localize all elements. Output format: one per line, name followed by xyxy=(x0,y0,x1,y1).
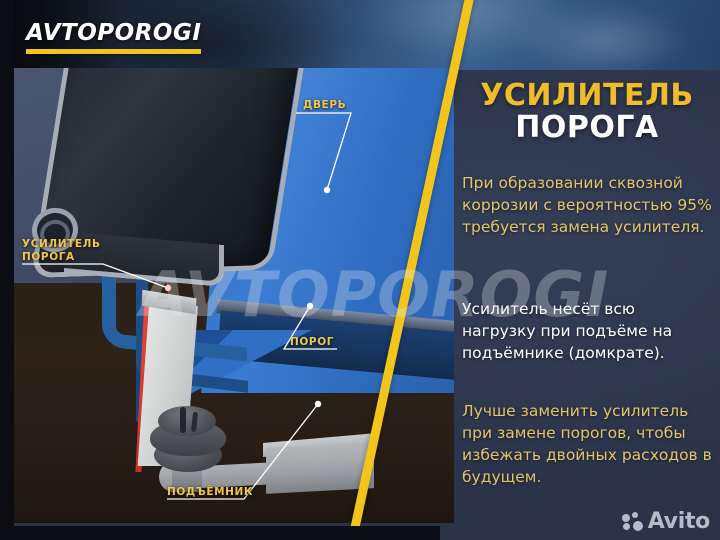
brand-logo-text: AVTOPOROGI xyxy=(26,22,201,45)
title-line-1: УСИЛИТЕЛЬ xyxy=(462,80,712,112)
infographic-card: AVTOPOROGI AVTOPOR xyxy=(0,0,720,540)
avito-logo-icon xyxy=(622,512,644,532)
lift-puck-slot xyxy=(180,407,186,433)
page-title: УСИЛИТЕЛЬ ПОРОГА xyxy=(462,80,712,145)
brand-logo: AVTOPOROGI xyxy=(26,22,201,54)
cutaway-diagram xyxy=(14,68,454,523)
paragraph-advice: Лучше заменить усилитель при замене поро… xyxy=(462,400,712,488)
brand-logo-underline xyxy=(26,49,201,54)
paragraph-load: Усилитель несёт всю нагрузку при подъёме… xyxy=(462,298,712,364)
avito-wordmark: Avito xyxy=(648,509,710,534)
paragraph-corrosion: При образовании сквозной коррозии с веро… xyxy=(462,172,712,238)
callout-label-rocker: ПОРОГ xyxy=(290,336,334,349)
frame-left-edge xyxy=(0,0,14,540)
lift-support-block xyxy=(266,442,374,494)
avito-watermark: Avito xyxy=(622,509,710,534)
info-column: УСИЛИТЕЛЬ ПОРОГА При образовании сквозно… xyxy=(462,0,720,540)
callout-label-reinforcer: УСИЛИТЕЛЬ ПОРОГА xyxy=(22,238,101,264)
callout-label-door: ДВЕРЬ xyxy=(303,99,346,112)
title-line-2: ПОРОГА xyxy=(462,112,712,144)
frame-bottom-edge xyxy=(0,526,440,540)
lift-rubber-puck-top xyxy=(158,406,216,436)
callout-label-lift: ПОДЪЁМНИК xyxy=(167,486,253,499)
